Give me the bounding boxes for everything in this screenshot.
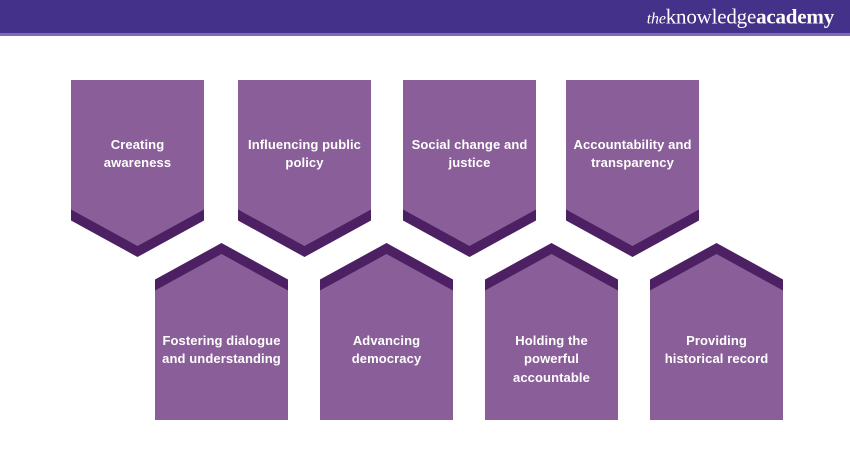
node-label: Accountability and transparency — [566, 136, 699, 173]
node-label: Holding the powerful accountable — [485, 332, 618, 387]
diagram-node-providing-historical-record[interactable]: Providing historical record — [650, 254, 783, 420]
brand-logo-knowledge: knowledge — [666, 4, 756, 28]
diagram-node-influencing-public-policy[interactable]: Influencing public policy — [238, 80, 371, 246]
node-label: Social change and justice — [403, 136, 536, 173]
diagram-node-holding-the-powerful-accountable[interactable]: Holding the powerful accountable — [485, 254, 618, 420]
node-label: Advancing democracy — [320, 332, 453, 369]
diagram-node-advancing-democracy[interactable]: Advancing democracy — [320, 254, 453, 420]
node-label: Influencing public policy — [238, 136, 371, 173]
brand-logo[interactable]: theknowledgeacademy — [647, 6, 834, 27]
node-label: Creating awareness — [71, 136, 204, 173]
page-header: theknowledgeacademy — [0, 0, 850, 36]
diagram-node-accountability-and-transparency[interactable]: Accountability and transparency — [566, 80, 699, 246]
diagram-node-fostering-dialogue-and-understanding[interactable]: Fostering dialogue and understanding — [155, 254, 288, 420]
diagram-node-social-change-and-justice[interactable]: Social change and justice — [403, 80, 536, 246]
brand-logo-the: the — [647, 10, 666, 27]
brand-logo-academy: academy — [756, 4, 834, 28]
diagram-canvas: Creating awareness Influencing public po… — [0, 36, 850, 450]
node-label: Fostering dialogue and understanding — [155, 332, 288, 369]
diagram-node-creating-awareness[interactable]: Creating awareness — [71, 80, 204, 246]
node-label: Providing historical record — [650, 332, 783, 369]
